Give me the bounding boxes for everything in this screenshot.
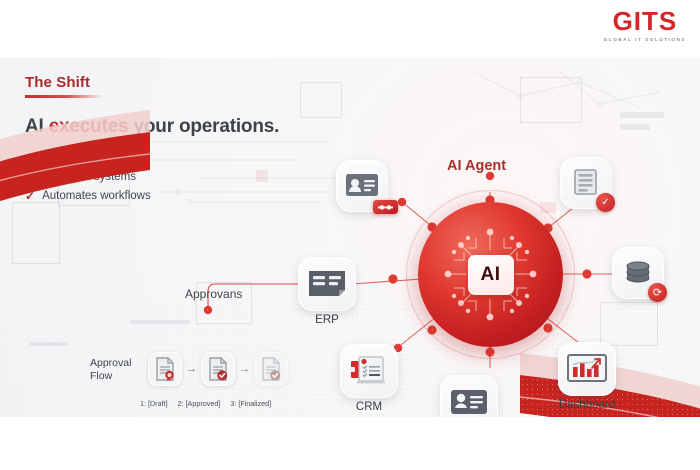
list-item: ✓ Connects systems	[25, 171, 325, 183]
node-erp[interactable]: ERP	[298, 257, 356, 326]
document-check-icon	[207, 357, 229, 381]
node-dashboard-label: Dashboard	[559, 399, 615, 411]
node-crm-label: CRM	[356, 401, 382, 413]
crm-checklist-icon	[350, 356, 388, 386]
document-ribbon-icon	[154, 357, 176, 381]
node-dashboard-box	[558, 342, 616, 396]
gits-logo: GITS GLOBAL IT SOLUTIONS	[604, 8, 686, 42]
logo-tagline: GLOBAL IT SOLUTIONS	[604, 37, 686, 42]
list-item: ✓ Automates workflows	[25, 190, 325, 202]
contact-record-icon	[450, 389, 488, 415]
headline-accent: executes	[49, 116, 129, 137]
approvals-section-title: Approvans	[185, 287, 242, 301]
check-badge-glyph: ✓	[601, 197, 609, 208]
approval-flow-label-line2: Flow	[90, 370, 152, 383]
document-icon	[572, 168, 600, 198]
step-label-approved: 2: [Approved]	[178, 399, 221, 408]
erp-form-icon	[308, 270, 346, 298]
red-tag-badge-icon	[373, 200, 398, 214]
node-document-approved[interactable]: ✓	[560, 157, 612, 209]
slide-header: GITS GLOBAL IT SOLUTIONS	[0, 0, 700, 58]
step-label-draft: 1: [Draft]	[140, 399, 168, 408]
ai-agent-label: AI Agent	[447, 158, 506, 174]
node-database-box	[440, 375, 498, 417]
check-badge-icon: ✓	[596, 193, 615, 212]
flow-arrow-icon: →	[239, 363, 250, 375]
eyebrow-label: The Shift	[25, 74, 325, 91]
approval-step-approved[interactable]	[201, 352, 235, 386]
list-item: ✓ Understands context	[25, 152, 325, 164]
approval-flow-label-line1: Approval	[90, 357, 152, 370]
approval-flow-steps: → →	[148, 352, 288, 386]
node-crm-box	[340, 344, 398, 398]
flow-arrow-icon: →	[186, 363, 197, 375]
ai-chip-label: AI	[481, 264, 501, 286]
check-icon: ✓	[25, 190, 35, 202]
sync-badge-glyph: ⟳	[653, 286, 662, 299]
node-dashboard[interactable]: Dashboard	[558, 342, 616, 411]
list-item-label: Automates workflows	[42, 190, 151, 202]
document-check-dim-icon	[260, 357, 282, 381]
approval-step-labels: 1: [Draft] 2: [Approved] 3: [Finalized]	[140, 399, 271, 408]
sync-badge-icon: ⟳	[648, 283, 667, 302]
approval-flow-label: Approval Flow	[90, 357, 152, 383]
ai-hub[interactable]: AI	[418, 202, 563, 347]
node-crm[interactable]: CRM	[340, 344, 398, 413]
check-icon: ✓	[25, 152, 35, 164]
approval-step-finalized[interactable]	[254, 352, 288, 386]
node-database-sync[interactable]: ⟳	[612, 247, 664, 299]
bar-chart-icon	[567, 354, 607, 384]
node-erp-label: ERP	[315, 314, 339, 326]
logo-wordmark: GITS	[604, 8, 686, 34]
list-item-label: Understands context	[42, 152, 147, 164]
check-icon: ✓	[25, 171, 35, 183]
slide-canvas: GITS GLOBAL IT SOLUTIONS	[0, 0, 700, 470]
approval-step-draft[interactable]	[148, 352, 182, 386]
page-title: AI executes your operations.	[25, 116, 325, 138]
node-document-box: ✓	[560, 157, 612, 209]
node-erp-box	[298, 257, 356, 311]
content-card: The Shift AI executes your operations. ✓…	[0, 52, 700, 417]
headline-part-2: your operations.	[128, 116, 279, 137]
node-contact-card[interactable]	[336, 160, 388, 212]
list-item-label: Connects systems	[42, 171, 136, 183]
ai-chip: AI	[468, 255, 514, 295]
eyebrow-underline	[25, 95, 103, 98]
benefit-list: ✓ Understands context ✓ Connects systems…	[25, 152, 325, 202]
database-cylinder-icon	[622, 257, 654, 289]
step-label-finalized: 3: [Finalized]	[230, 399, 271, 408]
headline-part-1: AI	[25, 116, 49, 137]
node-database-sync-box: ⟳	[612, 247, 664, 299]
node-database[interactable]: Database	[440, 375, 498, 417]
contact-card-icon	[345, 173, 379, 199]
left-text-panel: The Shift AI executes your operations. ✓…	[25, 74, 325, 209]
node-contact-card-box	[336, 160, 388, 212]
